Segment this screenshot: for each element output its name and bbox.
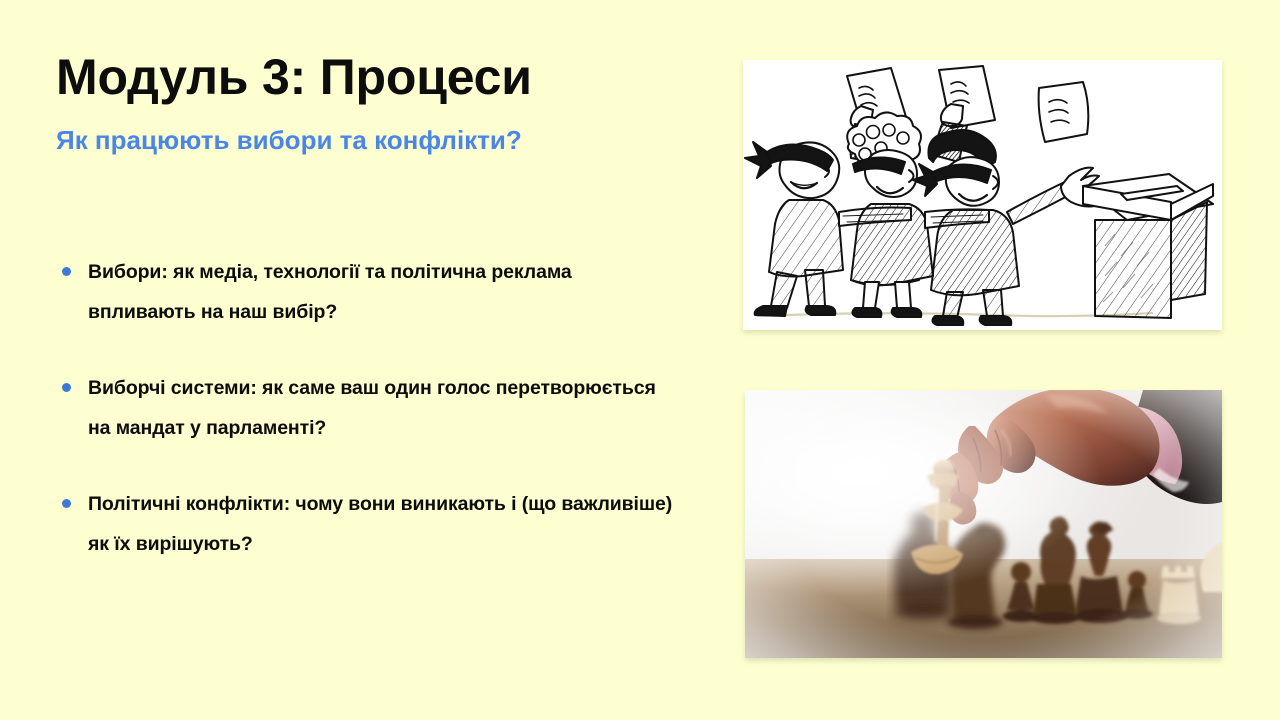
blindfolded-voters-cartoon-image xyxy=(743,60,1222,330)
list-item: Політичні конфлікти: чому вони виникають… xyxy=(56,485,676,565)
slide-canvas: Модуль 3: Процеси Як працюють вибори та … xyxy=(0,0,1280,720)
chess-hand-drawing xyxy=(745,390,1222,658)
bullet-dot-icon xyxy=(62,499,71,508)
bullet-list: Вибори: як медіа, технології та політичн… xyxy=(56,253,676,565)
list-item-text: Виборчі системи: як саме ваш один голос … xyxy=(88,377,656,439)
text-column: Модуль 3: Процеси Як працюють вибори та … xyxy=(56,50,696,156)
blindfolded-voters-cartoon-drawing xyxy=(743,60,1222,330)
list-item-text: Політичні конфлікти: чому вони виникають… xyxy=(88,493,672,555)
chess-hand-photo-image xyxy=(745,390,1222,658)
list-item-text: Вибори: як медіа, технології та політичн… xyxy=(88,261,572,323)
bullet-dot-icon xyxy=(62,383,71,392)
list-item: Вибори: як медіа, технології та політичн… xyxy=(56,253,676,333)
list-item: Виборчі системи: як саме ваш один голос … xyxy=(56,369,676,449)
page-title: Модуль 3: Процеси xyxy=(56,50,696,104)
slide-subtitle: Як працюють вибори та конфлікти? xyxy=(56,104,696,156)
bullet-dot-icon xyxy=(62,267,71,276)
